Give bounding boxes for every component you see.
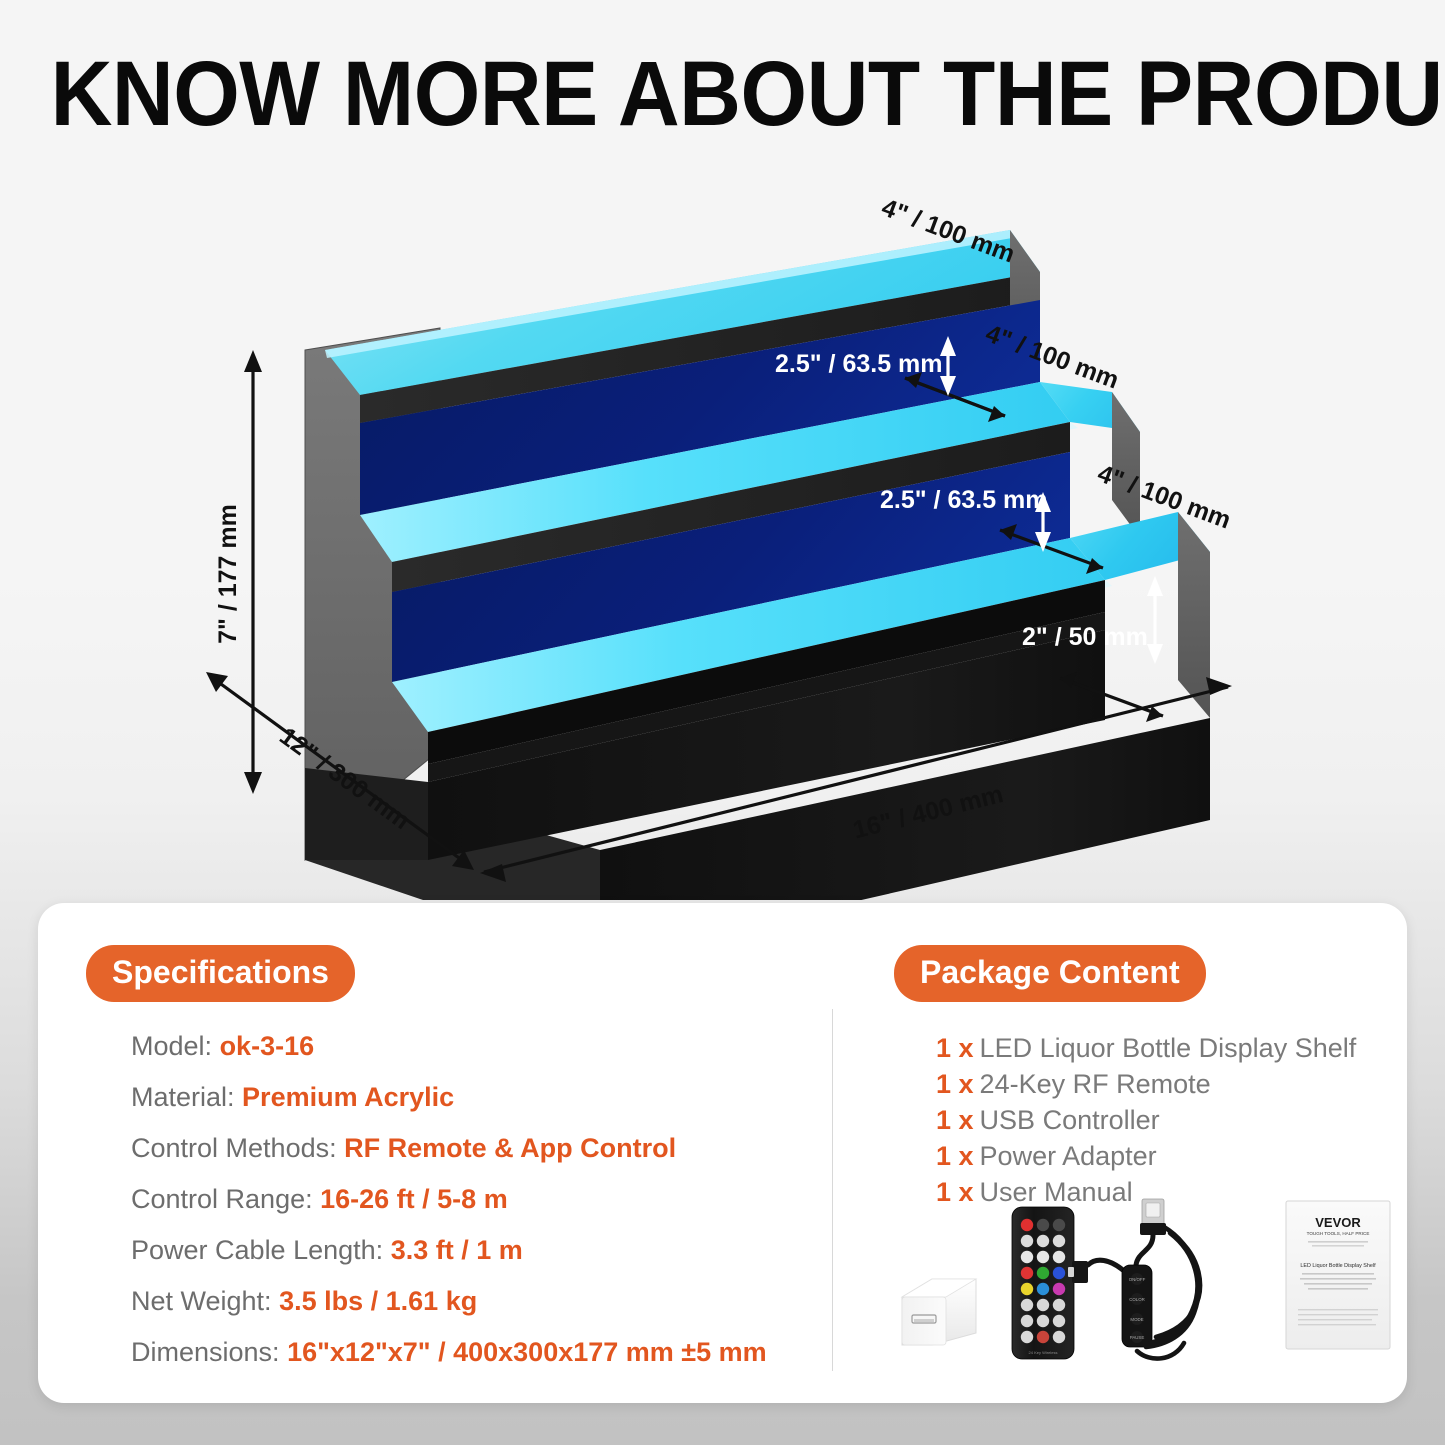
- user-manual-icon: VEVOR TOUGH TOOLS, HALF PRICE LED Liquor…: [1286, 1201, 1390, 1349]
- spec-row-control-range: Control Range: 16-26 ft / 5-8 m: [86, 1185, 866, 1214]
- package-item-shelf: 1 xLED Liquor Bottle Display Shelf: [894, 1030, 1364, 1066]
- spec-row-dimensions: Dimensions: 16"x12"x7" / 400x300x177 mm …: [86, 1338, 866, 1367]
- spec-label-dimensions: Dimensions:: [131, 1337, 280, 1367]
- accessory-images: 24 Key Wireless ON/: [888, 1193, 1398, 1373]
- package-content-section: Package Content 1 xLED Liquor Bottle Dis…: [894, 945, 1364, 1210]
- spec-value-model: ok-3-16: [220, 1031, 315, 1061]
- package-name-shelf: LED Liquor Bottle Display Shelf: [980, 1033, 1357, 1063]
- spec-label-model: Model:: [131, 1031, 212, 1061]
- spec-value-material: Premium Acrylic: [242, 1082, 454, 1112]
- package-content-list: 1 xLED Liquor Bottle Display Shelf 1 x24…: [894, 1030, 1364, 1210]
- spec-value-control-range: 16-26 ft / 5-8 m: [320, 1184, 508, 1214]
- dimension-label-tier2-height: 2.5" / 63.5 mm: [880, 486, 1048, 514]
- spec-row-power-cable-length: Power Cable Length: 3.3 ft / 1 m: [86, 1236, 866, 1265]
- spec-row-control-methods: Control Methods: RF Remote & App Control: [86, 1134, 866, 1163]
- spec-label-power-cable-length: Power Cable Length:: [131, 1235, 383, 1265]
- infographic-page: KNOW MORE ABOUT THE PRODUCT: [0, 0, 1445, 1445]
- spec-label-control-range: Control Range:: [131, 1184, 313, 1214]
- package-item-power-adapter: 1 xPower Adapter: [894, 1138, 1364, 1174]
- package-name-remote: 24-Key RF Remote: [980, 1069, 1211, 1099]
- specifications-list: Model: ok-3-16 Material: Premium Acrylic…: [86, 1032, 866, 1367]
- spec-label-material: Material:: [131, 1082, 235, 1112]
- dimension-label-tier1-height: 2.5" / 63.5 mm: [775, 350, 943, 378]
- controller-button-pause: PAUSE: [1130, 1335, 1145, 1340]
- controller-button-color: COLOR: [1129, 1297, 1145, 1302]
- package-item-remote: 1 x24-Key RF Remote: [894, 1066, 1364, 1102]
- package-qty-remote: 1 x: [936, 1069, 974, 1099]
- page-title: KNOW MORE ABOUT THE PRODUCT: [51, 46, 1395, 142]
- manual-doc-title: LED Liquor Bottle Display Shelf: [1300, 1263, 1376, 1269]
- svg-text:24 Key Wireless: 24 Key Wireless: [1029, 1350, 1058, 1355]
- controller-button-onoff: ON/OFF: [1129, 1277, 1146, 1282]
- spec-label-net-weight: Net Weight:: [131, 1286, 272, 1316]
- package-content-heading: Package Content: [894, 945, 1206, 1002]
- spec-row-model: Model: ok-3-16: [86, 1032, 866, 1061]
- manual-brand: VEVOR: [1315, 1215, 1361, 1230]
- package-qty-shelf: 1 x: [936, 1033, 974, 1063]
- usb-controller-icon: ON/OFF COLOR MODE PAUSE: [1068, 1199, 1200, 1359]
- package-qty-usb-controller: 1 x: [936, 1105, 974, 1135]
- info-card: Specifications Model: ok-3-16 Material: …: [38, 903, 1407, 1403]
- power-adapter-icon: [902, 1279, 976, 1345]
- specifications-section: Specifications Model: ok-3-16 Material: …: [86, 945, 866, 1389]
- dimension-label-base-height: 2" / 50 mm: [1022, 623, 1148, 651]
- package-name-power-adapter: Power Adapter: [980, 1141, 1157, 1171]
- section-divider: [832, 1009, 833, 1371]
- spec-value-control-methods: RF Remote & App Control: [344, 1133, 676, 1163]
- package-name-usb-controller: USB Controller: [980, 1105, 1160, 1135]
- spec-row-net-weight: Net Weight: 3.5 lbs / 1.61 kg: [86, 1287, 866, 1316]
- package-item-usb-controller: 1 xUSB Controller: [894, 1102, 1364, 1138]
- product-diagram: 4" / 100 mm 2.5" / 63.5 mm 4" / 100 mm 2…: [0, 160, 1445, 900]
- spec-label-control-methods: Control Methods:: [131, 1133, 337, 1163]
- manual-tagline: TOUGH TOOLS, HALF PRICE: [1307, 1231, 1370, 1236]
- spec-value-power-cable-length: 3.3 ft / 1 m: [391, 1235, 523, 1265]
- rf-remote-icon: 24 Key Wireless: [1012, 1207, 1074, 1359]
- spec-row-material: Material: Premium Acrylic: [86, 1083, 866, 1112]
- package-qty-power-adapter: 1 x: [936, 1141, 974, 1171]
- dimension-label-overall-height: 7" / 177 mm: [214, 504, 242, 644]
- spec-value-dimensions: 16"x12"x7" / 400x300x177 mm ±5 mm: [287, 1337, 767, 1367]
- controller-button-mode: MODE: [1130, 1317, 1143, 1322]
- specifications-heading: Specifications: [86, 945, 355, 1002]
- spec-value-net-weight: 3.5 lbs / 1.61 kg: [279, 1286, 477, 1316]
